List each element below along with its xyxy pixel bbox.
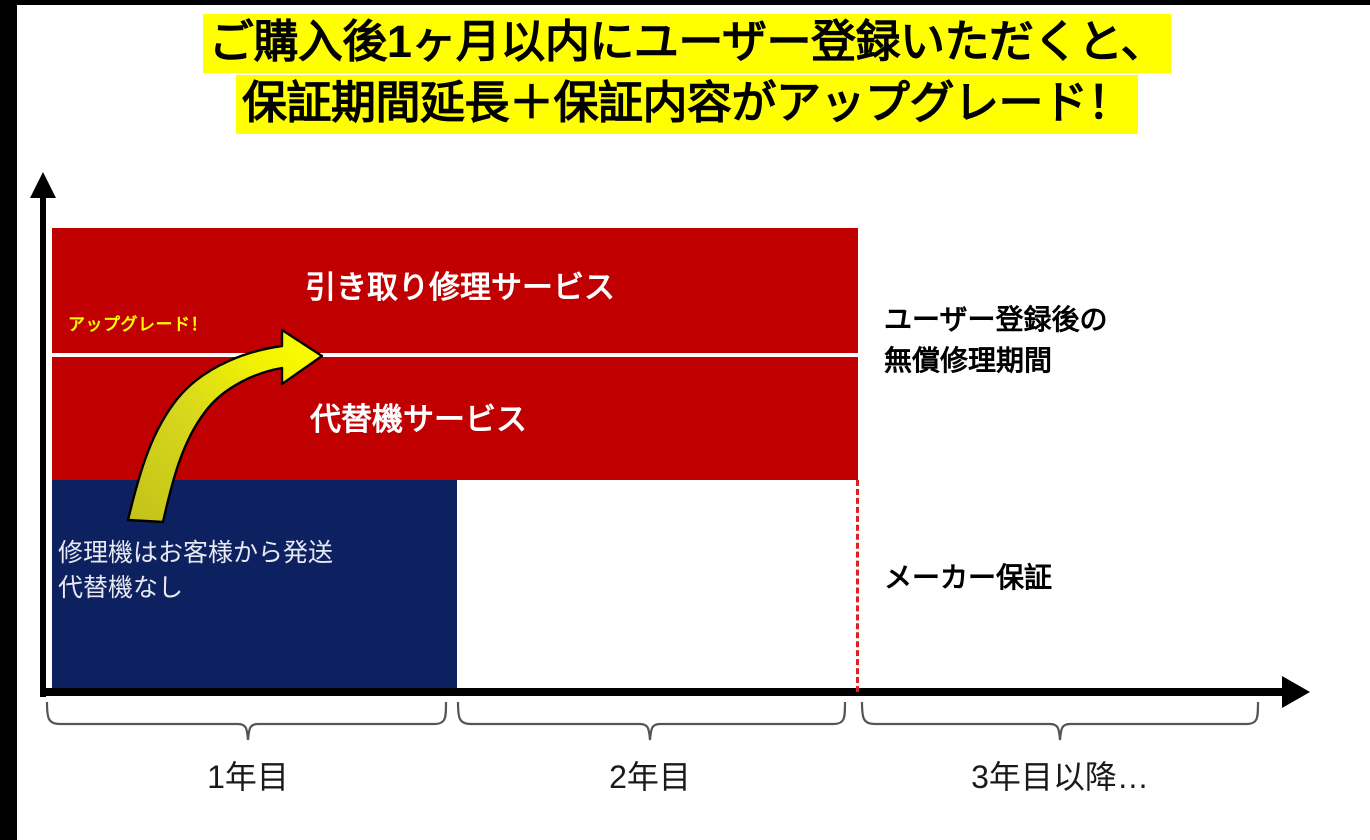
title-line-1: ご購入後1ヶ月以内にユーザー登録いただくと、 [203, 14, 1171, 73]
label-upgrade-callout: アップグレード！ [68, 310, 208, 335]
x-axis-line [40, 688, 1285, 696]
label-maker-warranty-detail-line1: 修理機はお客様から発送 [58, 536, 333, 571]
legend-maker-warranty: メーカー保証 [884, 556, 1052, 596]
label-loaner-machine-service: 代替機サービス [310, 394, 527, 439]
legend-registered-warranty-period-line2: 無償修理期間 [884, 341, 1107, 382]
y-axis-line [40, 192, 46, 697]
title-line-2: 保証期間延長＋保証内容がアップグレード！ [236, 75, 1138, 134]
warranty-diagram: ご購入後1ヶ月以内にユーザー登録いただくと、 保証期間延長＋保証内容がアップグレ… [0, 0, 1370, 840]
label-maker-warranty-detail-line2: 代替機なし [58, 571, 333, 606]
page-title: ご購入後1ヶ月以内にユーザー登録いただくと、 保証期間延長＋保証内容がアップグレ… [17, 14, 1357, 134]
page-top-border [17, 0, 1370, 5]
label-pickup-repair-service: 引き取り修理サービス [305, 262, 615, 307]
legend-registered-warranty-period-line1: ユーザー登録後の [884, 300, 1107, 341]
bar-divider [52, 353, 858, 357]
year-label-2: 2年目 [550, 752, 750, 798]
year-label-1: 1年目 [148, 752, 348, 798]
legend-registered-warranty-period: ユーザー登録後の 無償修理期間 [884, 300, 1107, 381]
year-label-3: 3年目以降… [940, 752, 1180, 798]
warranty-boundary-dashed-line [856, 480, 859, 692]
label-maker-warranty-detail: 修理機はお客様から発送 代替機なし [58, 536, 333, 605]
